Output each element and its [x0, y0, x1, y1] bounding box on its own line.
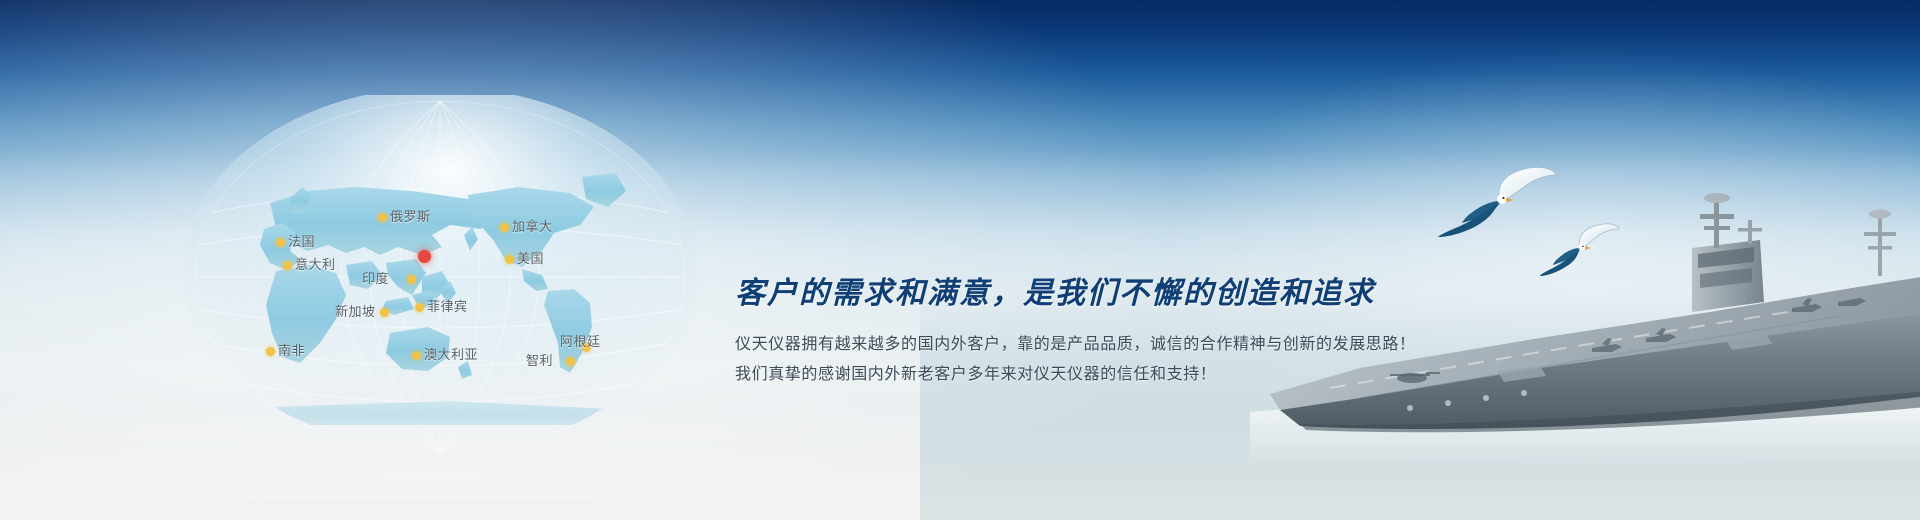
- map-marker-dot: [283, 261, 292, 270]
- ship-island-tower: [1692, 193, 1764, 312]
- hero-banner: 法国意大利俄罗斯加拿大美国印度菲律宾新加坡南非澳大利亚智利阿根廷 客户的需求和满…: [0, 0, 1920, 520]
- map-marker-label: 智利: [526, 350, 553, 369]
- world-map-globe: 法国意大利俄罗斯加拿大美国印度菲律宾新加坡南非澳大利亚智利阿根廷: [150, 95, 730, 455]
- ship-bow-mast: [1864, 210, 1896, 277]
- map-marker-label: 俄罗斯: [390, 206, 431, 225]
- map-marker-dot: [266, 347, 275, 356]
- map-marker-dot: [407, 275, 416, 284]
- map-marker-label: 阿根廷: [560, 331, 601, 350]
- map-marker-label: 法国: [288, 231, 315, 250]
- map-marker-label: 美国: [517, 248, 544, 267]
- map-marker-label: 澳大利亚: [424, 344, 478, 363]
- map-marker-dot: [415, 303, 424, 312]
- map-marker-dot: [505, 255, 514, 264]
- map-marker-dot: [566, 357, 575, 366]
- map-marker-label: 菲律宾: [427, 296, 468, 315]
- aircraft-carrier-icon: [1240, 162, 1920, 492]
- map-marker-dot: [380, 308, 389, 317]
- map-marker-label: 印度: [362, 268, 389, 287]
- map-marker-label: 新加坡: [335, 301, 376, 320]
- map-marker-dot: [418, 250, 431, 263]
- map-marker-dot: [412, 351, 421, 360]
- map-marker-dot: [378, 213, 387, 222]
- map-marker-label: 意大利: [295, 254, 336, 273]
- map-marker-label: 加拿大: [512, 216, 553, 235]
- map-marker-dot: [276, 238, 285, 247]
- map-marker-dot: [500, 223, 509, 232]
- map-marker-label: 南非: [278, 340, 305, 359]
